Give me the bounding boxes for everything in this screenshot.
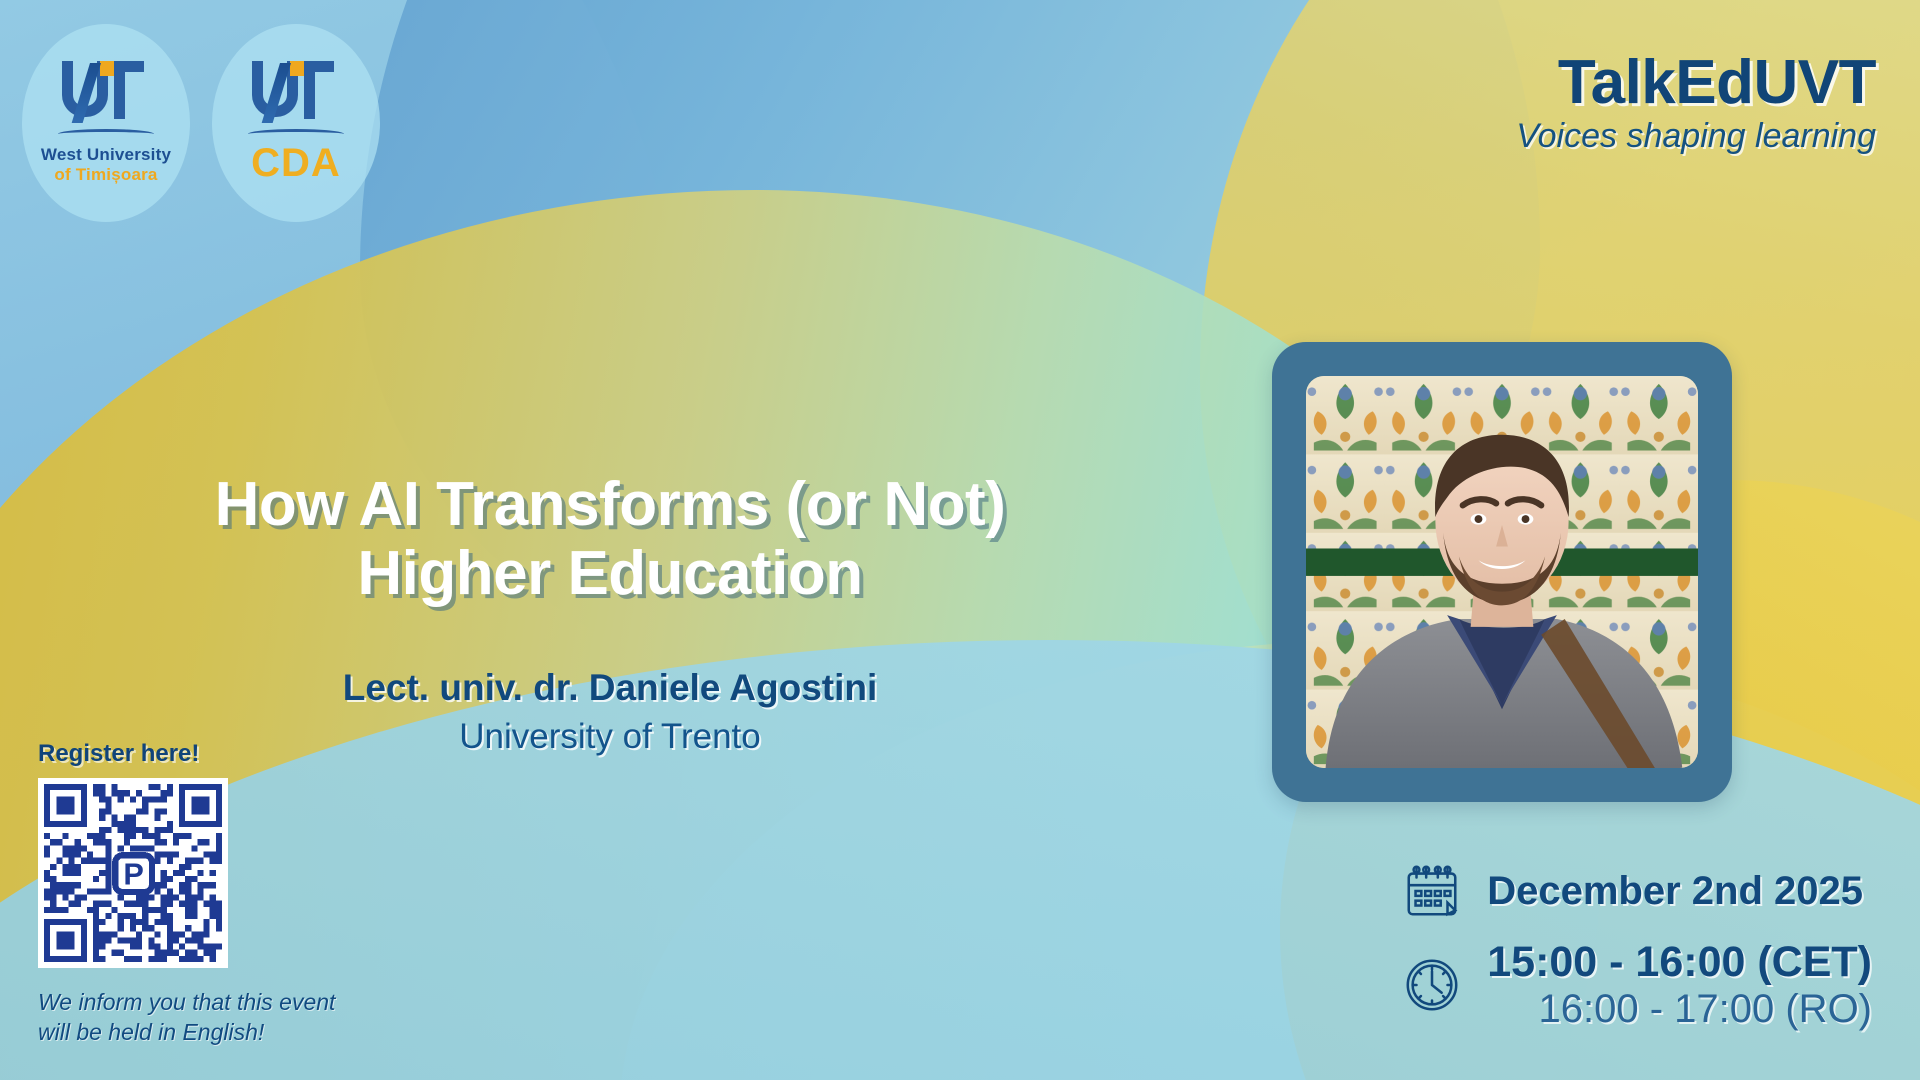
cda-logo: CDA <box>212 24 380 222</box>
uvt-logo: West University of Timișoara <box>22 24 190 222</box>
uvt-logo-line1: West University <box>41 145 171 165</box>
time-text-column: 15:00 - 16:00 (CET) 16:00 - 17:00 (RO) <box>1487 938 1872 1032</box>
uvt-swoosh-icon <box>58 129 154 139</box>
event-time-cet: 15:00 - 16:00 (CET) <box>1487 938 1872 987</box>
uvt-monogram-icon <box>56 61 156 123</box>
register-label: Register here! <box>38 740 338 768</box>
language-note-line2: will be held in English! <box>38 1019 264 1045</box>
talk-block: How AI Transforms (or Not) Higher Educat… <box>130 470 1090 757</box>
event-time-ro: 16:00 - 17:00 (RO) <box>1487 987 1872 1032</box>
speaker-portrait-image <box>1306 376 1698 768</box>
calendar-icon <box>1401 860 1463 922</box>
event-date: December 2nd 2025 <box>1487 869 1863 914</box>
brand-block: TalkEdUVT Voices shaping learning <box>1516 52 1876 155</box>
clock-icon <box>1401 954 1463 1016</box>
language-note: We inform you that this event will be he… <box>38 988 338 1048</box>
brand-title: TalkEdUVT <box>1516 52 1876 114</box>
qr-code-image: P <box>44 784 222 962</box>
brand-tagline: Voices shaping learning <box>1516 118 1876 155</box>
logo-row: West University of Timișoara CDA <box>22 24 380 222</box>
talk-title-line2: Higher Education <box>357 539 862 608</box>
time-row: 15:00 - 16:00 (CET) 16:00 - 17:00 (RO) <box>1401 938 1872 1032</box>
talk-title: How AI Transforms (or Not) Higher Educat… <box>130 470 1090 609</box>
register-block: Register here! P We inform you that this… <box>38 740 338 1048</box>
event-poster: West University of Timișoara CDA TalkEdU… <box>0 0 1920 1080</box>
speaker-name: Lect. univ. dr. Daniele Agostini <box>130 667 1090 709</box>
speaker-photo-frame <box>1272 342 1732 802</box>
language-note-line1: We inform you that this event <box>38 989 335 1015</box>
cda-logo-label: CDA <box>251 141 341 186</box>
svg-text:P: P <box>123 857 143 892</box>
uvt-logo-line2: of Timișoara <box>54 165 157 185</box>
date-row: December 2nd 2025 <box>1401 860 1872 922</box>
qr-code[interactable]: P <box>38 778 228 968</box>
cda-monogram-icon <box>246 61 346 123</box>
schedule-block: December 2nd 2025 15:00 - 16:00 (CET) 16… <box>1401 860 1872 1032</box>
talk-title-line1: How AI Transforms (or Not) <box>215 470 1006 539</box>
speaker-photo <box>1306 376 1698 768</box>
cda-swoosh-icon <box>248 129 344 139</box>
